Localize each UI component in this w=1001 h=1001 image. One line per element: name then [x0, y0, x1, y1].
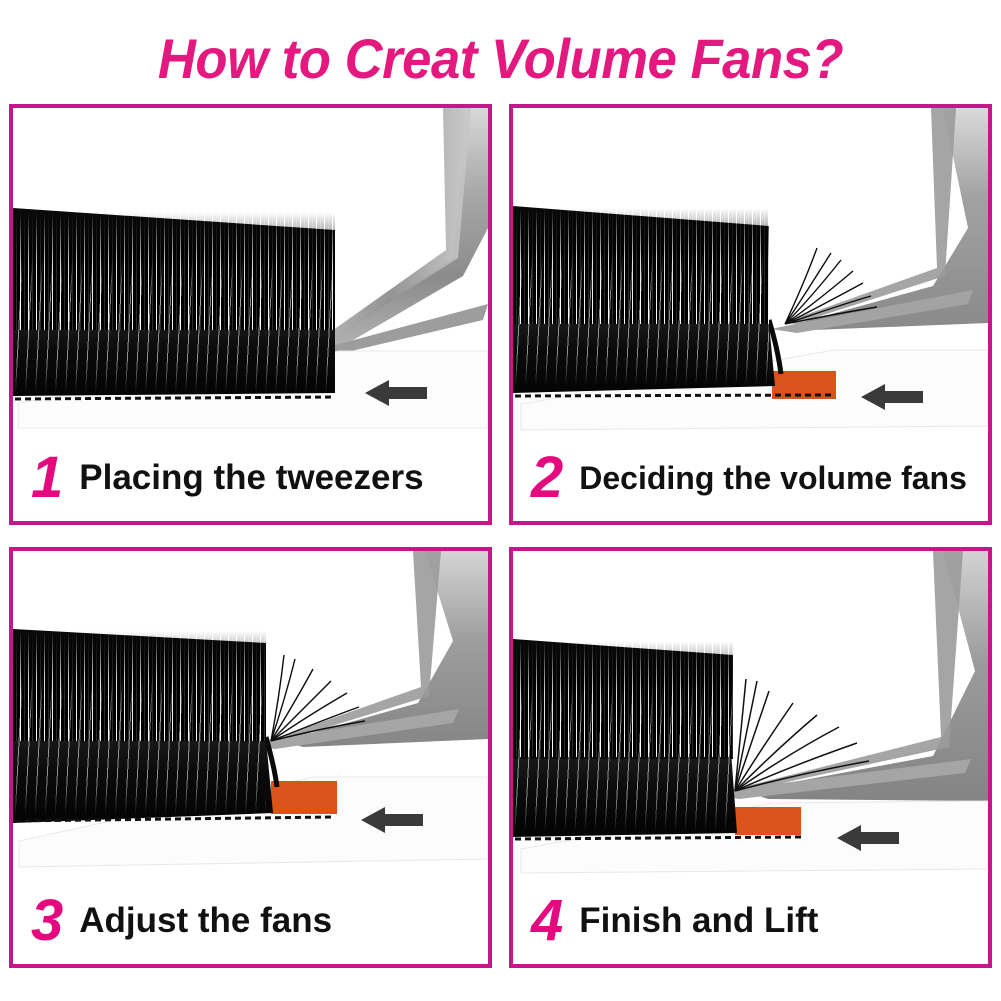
step-label-3: Adjust the fans [79, 903, 332, 938]
step-photo-2 [513, 108, 988, 434]
lash-highlight-streaks [513, 254, 769, 386]
step-photo-3 [13, 551, 488, 877]
lash-highlight-streaks [13, 258, 335, 393]
step-panel-4[interactable]: 4 Finish and Lift [509, 547, 992, 968]
tweezer-upper-arm [283, 551, 488, 747]
step-photo-4 [513, 551, 988, 877]
step-number-1: 1 [31, 449, 63, 507]
adhesive-tab [271, 781, 337, 814]
step-caption-4: 4 Finish and Lift [513, 877, 988, 964]
step-panel-1[interactable]: 1 Placing the tweezers [9, 104, 492, 525]
step-number-2: 2 [531, 449, 563, 507]
page-title: How to Creat Volume Fans? [30, 26, 971, 91]
step-caption-2: 2 Deciding the volume fans [513, 434, 988, 521]
dashed-guide-line [515, 837, 803, 839]
step-panel-3[interactable]: 3 Adjust the fans [9, 547, 492, 968]
step-number-4: 4 [531, 892, 563, 950]
step-panel-2[interactable]: 2 Deciding the volume fans [509, 104, 992, 525]
lash-highlight-streaks [13, 675, 266, 815]
step-caption-3: 3 Adjust the fans [13, 877, 488, 964]
direction-arrow-icon [361, 807, 423, 833]
infographic-page: How to Creat Volume Fans? [0, 0, 1001, 1001]
step-label-2: Deciding the volume fans [579, 462, 967, 494]
step-number-3: 3 [31, 892, 63, 950]
steps-grid: 1 Placing the tweezers [9, 104, 992, 968]
tweezer-shaft [735, 551, 963, 791]
lash-highlight-streaks [513, 687, 733, 831]
step-label-4: Finish and Lift [579, 903, 818, 938]
step-photo-1 [13, 108, 488, 434]
step-caption-1: 1 Placing the tweezers [13, 434, 488, 521]
adhesive-tab [735, 807, 801, 835]
direction-arrow-icon [837, 825, 899, 851]
direction-arrow-icon [861, 384, 923, 410]
step-label-1: Placing the tweezers [79, 460, 423, 495]
direction-arrow-icon [365, 380, 427, 406]
